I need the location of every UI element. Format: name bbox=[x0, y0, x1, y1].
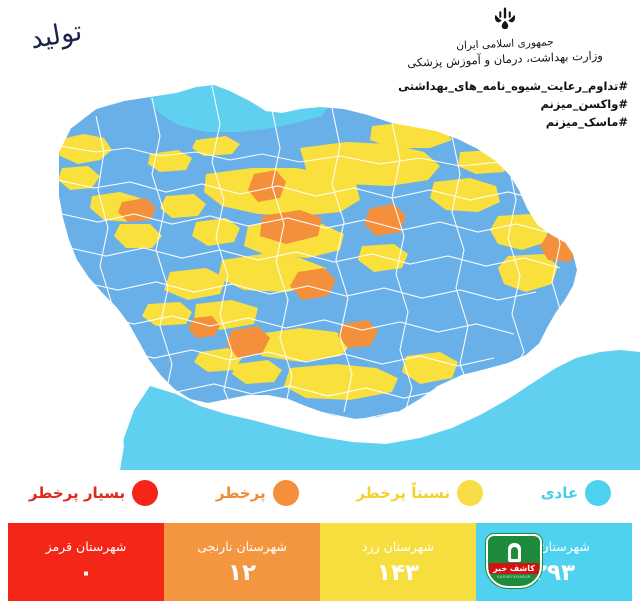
legend-item-medium-risk: نسبتاً پرخطر bbox=[356, 480, 483, 506]
county-count-bar: شهرستان قرمز ۰ شهرستان نارنجی ۱۲ شهرستان… bbox=[8, 523, 632, 601]
legend-item-high-risk: پرخطر bbox=[216, 480, 299, 506]
legend-item-normal: عادی bbox=[541, 480, 611, 506]
stat-value-yellow: ۱۴۳ bbox=[377, 560, 419, 586]
kashefkhabar-watermark: کاشف خبر KASHEFKHABAR bbox=[483, 532, 545, 590]
risk-legend: بسیار پرخطر پرخطر نسبتاً پرخطر عادی bbox=[0, 470, 640, 515]
stat-value-orange: ۱۲ bbox=[228, 560, 256, 586]
legend-dot-cyan-icon bbox=[585, 480, 611, 506]
legend-label-high-risk: پرخطر bbox=[216, 484, 266, 502]
legend-dot-yellow-icon bbox=[457, 480, 483, 506]
watermark-name: کاشف خبر bbox=[489, 563, 539, 574]
iran-emblem-icon bbox=[380, 6, 630, 35]
arabian-peninsula-mask bbox=[0, 352, 124, 470]
stat-yellow-counties: شهرستان زرد ۱۴۳ bbox=[320, 523, 476, 601]
legend-dot-red-icon bbox=[132, 480, 158, 506]
legend-item-very-high-risk: بسیار پرخطر bbox=[29, 480, 158, 506]
legend-label-very-high-risk: بسیار پرخطر bbox=[29, 484, 125, 502]
stat-orange-counties: شهرستان نارنجی ۱۲ bbox=[164, 523, 320, 601]
legend-label-normal: عادی bbox=[541, 484, 578, 502]
shield-logo-icon: کاشف خبر KASHEFKHABAR bbox=[486, 534, 542, 588]
stat-value-red: ۰ bbox=[79, 560, 93, 586]
legend-dot-orange-icon bbox=[273, 480, 299, 506]
watermark-subtitle: KASHEFKHABAR bbox=[497, 575, 531, 579]
legend-label-medium-risk: نسبتاً پرخطر bbox=[356, 484, 450, 502]
infographic-root: تولید جمهوری اسلامی ایران وزارت بهداشت، … bbox=[0, 0, 640, 616]
shield-emblem-icon bbox=[508, 543, 521, 562]
iran-risk-map bbox=[0, 56, 640, 470]
stat-blue-counties: شهرستان آبی ۲۹۳ کاشف خبر KASHEFKHABAR bbox=[476, 523, 632, 601]
stat-label-orange: شهرستان نارنجی bbox=[197, 539, 287, 554]
stat-red-counties: شهرستان قرمز ۰ bbox=[8, 523, 164, 601]
stat-label-red: شهرستان قرمز bbox=[46, 539, 127, 554]
stat-label-yellow: شهرستان زرد bbox=[362, 539, 434, 554]
